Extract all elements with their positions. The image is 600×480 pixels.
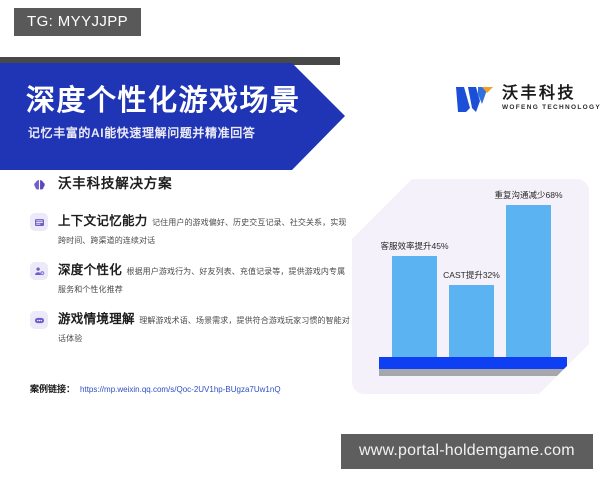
chart-bar-label: 重复沟通减少68%	[494, 191, 562, 200]
list-item-title: 上下文记忆能力	[58, 214, 148, 228]
brand-name-en: WOFENG TECHNOLOGY	[502, 103, 600, 112]
chart-base-shadow	[379, 369, 567, 376]
page-title: 深度个性化游戏场景	[26, 87, 301, 116]
case-link-url[interactable]: https://mp.weixin.qq.com/s/Qoc-2UV1hp-BU…	[80, 385, 281, 394]
list-item: 游戏情境理解 理解游戏术语、场景需求，提供符合游戏玩家习惯的智能对话体验	[30, 310, 350, 346]
brand-logo-text: 沃丰科技 WOFENG TECHNOLOGY	[502, 86, 600, 112]
list-item-body: 沃丰科技解决方案	[58, 175, 350, 193]
list-item-body: 上下文记忆能力 记住用户的游戏偏好、历史交互记录、社交关系，实现跨时间、跨渠道的…	[58, 212, 350, 248]
list-item: 上下文记忆能力 记住用户的游戏偏好、历史交互记录、社交关系，实现跨时间、跨渠道的…	[30, 212, 350, 248]
chart-panel: 客服效率提升45%CAST提升32%重复沟通减少68%	[352, 179, 589, 394]
chart-bar-group: 重复沟通减少68%	[506, 205, 551, 357]
list-item-title: 沃丰科技解决方案	[58, 176, 172, 191]
wofeng-w-mark-icon	[455, 84, 495, 114]
bottom-watermark-badge: www.portal-holdemgame.com	[341, 434, 593, 469]
feature-list: 沃丰科技解决方案 上下文记忆能力 记住用户的游戏偏好、历史交互记录、社交关系，实…	[30, 175, 350, 359]
list-item: 深度个性化 根据用户游戏行为、好友列表、充值记录等，提供游戏内专属服务和个性化推…	[30, 261, 350, 297]
list-item: 沃丰科技解决方案	[30, 175, 350, 194]
chart-bar-label: CAST提升32%	[443, 271, 500, 280]
top-watermark-badge: TG: MYYJJPP	[14, 8, 141, 36]
case-link-label: 案例链接：	[30, 382, 75, 395]
chart-bar	[506, 205, 551, 357]
brain-icon	[30, 176, 48, 194]
brand-logo: 沃丰科技 WOFENG TECHNOLOGY	[455, 84, 600, 114]
memory-card-icon	[30, 213, 48, 231]
bar-chart: 客服效率提升45%CAST提升32%重复沟通减少68%	[352, 179, 589, 394]
slide-canvas: 深度个性化游戏场景 记忆丰富的AI能快速理解问题并精准回答 沃丰科技 WOFEN…	[0, 57, 600, 417]
page-subtitle: 记忆丰富的AI能快速理解问题并精准回答	[28, 127, 255, 139]
chart-bar-group: CAST提升32%	[449, 285, 494, 357]
chart-bar-label: 客服效率提升45%	[380, 242, 448, 251]
list-item-body: 游戏情境理解 理解游戏术语、场景需求，提供符合游戏玩家习惯的智能对话体验	[58, 310, 350, 346]
chart-bar-group: 客服效率提升45%	[392, 256, 437, 357]
person-gear-icon	[30, 262, 48, 280]
list-item-body: 深度个性化 根据用户游戏行为、好友列表、充值记录等，提供游戏内专属服务和个性化推…	[58, 261, 350, 297]
brand-name-cn: 沃丰科技	[502, 86, 600, 103]
list-item-title: 深度个性化	[58, 263, 122, 277]
chat-bubble-icon	[30, 311, 48, 329]
chart-bar	[392, 256, 437, 357]
case-link: 案例链接： https://mp.weixin.qq.com/s/Qoc-2UV…	[30, 382, 281, 395]
chart-bar	[449, 285, 494, 357]
list-item-title: 游戏情境理解	[58, 312, 135, 326]
chart-base-plate	[379, 357, 567, 369]
